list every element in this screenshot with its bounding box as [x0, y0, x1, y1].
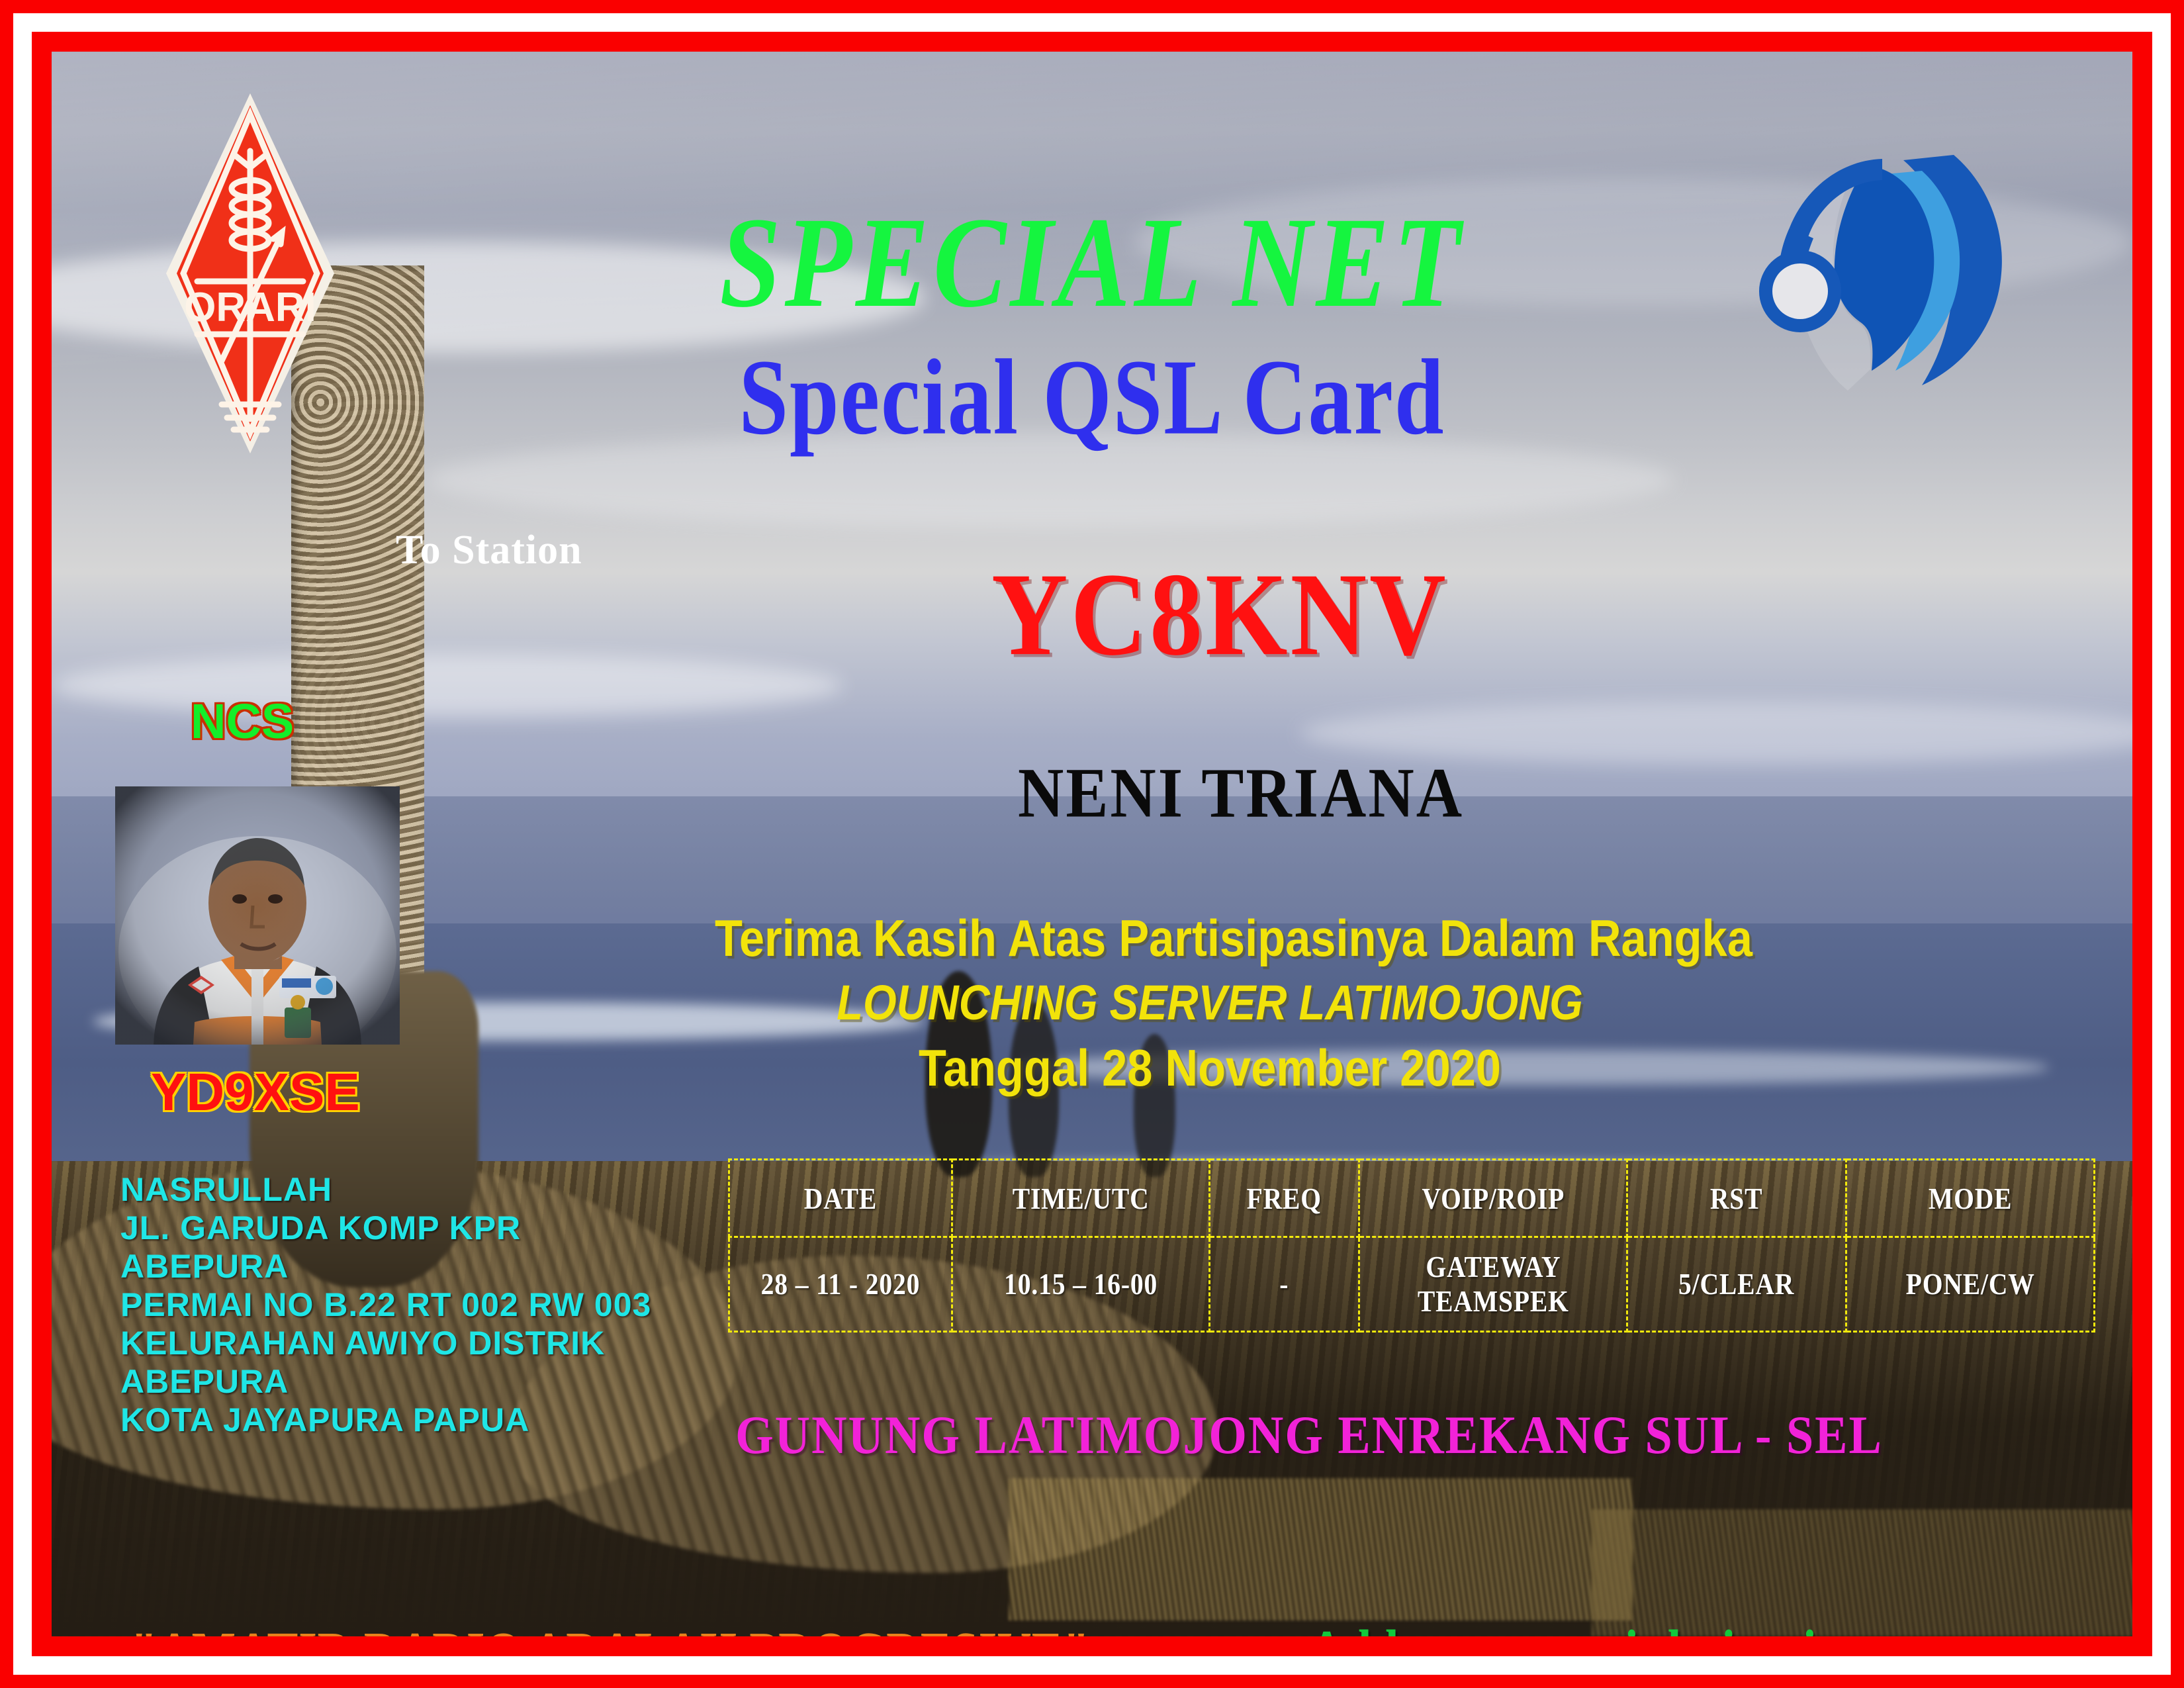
cloud-streak: [52, 654, 842, 718]
column-header-freq: FREQ: [1210, 1160, 1359, 1237]
location-line: GUNUNG LATIMOJONG ENREKANG SUL - SEL: [700, 1409, 1918, 1462]
event-name-line: LOUNCHING SERVER LATIMOJONG: [715, 978, 1705, 1027]
ncs-callsign: YD9XSE: [151, 1066, 360, 1119]
address-line: KELURAHAN AWIYO DISTRIK: [120, 1324, 651, 1362]
cell-mode: PONE/CW: [1846, 1237, 2094, 1332]
page-subtitle: Special QSL Card: [52, 343, 2132, 451]
card-background-photograph: ORARI SPECIAL NET Special QSL Card To St…: [52, 52, 2132, 1636]
grass-patch: [1009, 1478, 1633, 1620]
ncs-operator-photo: [115, 786, 400, 1045]
table-header-row: DATE TIME/UTC FREQ VOIP/ROIP RST MODE: [729, 1160, 2095, 1237]
cell-date: 28 – 11 - 2020: [729, 1237, 952, 1332]
cell-rst: 5/CLEAR: [1627, 1237, 1846, 1332]
page-title: SPECIAL NET: [52, 197, 2132, 327]
qsl-card: ORARI SPECIAL NET Special QSL Card To St…: [0, 0, 2184, 1688]
qso-log-table: DATE TIME/UTC FREQ VOIP/ROIP RST MODE 28…: [728, 1158, 2095, 1333]
operator-name: NENI TRIANA: [1018, 757, 1464, 829]
card-inner-red-border: ORARI SPECIAL NET Special QSL Card To St…: [32, 32, 2152, 1656]
table-row: 28 – 11 - 2020 10.15 – 16-00 - GATEWAY T…: [729, 1237, 2095, 1332]
address-line: KOTA JAYAPURA PAPUA: [120, 1401, 651, 1439]
address-line: PERMAI NO B.22 RT 002 RW 003: [120, 1286, 651, 1324]
column-header-rst: RST: [1627, 1160, 1846, 1237]
cell-freq: -: [1210, 1237, 1359, 1332]
column-header-date: DATE: [729, 1160, 952, 1237]
footer-slogan: "AMATIR RADIO ADALAH PROGRESIVE": [131, 1624, 1090, 1636]
grass-patch: [1592, 1509, 2132, 1636]
column-header-voip: VOIP/ROIP: [1359, 1160, 1627, 1237]
event-date-line: Tanggal 28 November 2020: [715, 1042, 1705, 1094]
address-line: JL. GARUDA KOMP KPR: [120, 1209, 651, 1247]
cell-voip: GATEWAY TEAMSPEK: [1359, 1237, 1627, 1332]
station-callsign: YC8KNV: [991, 555, 1449, 673]
address-line: NASRULLAH: [120, 1170, 651, 1209]
card-white-gap: ORARI SPECIAL NET Special QSL Card To St…: [13, 13, 2171, 1675]
event-thanks-line: Terima Kasih Atas Partisipasinya Dalam R…: [715, 912, 1705, 964]
footer-web-address: Address : amatir.latimojong.com: [1309, 1622, 1991, 1636]
address-line: ABEPURA: [120, 1362, 651, 1401]
address-line: ABEPURA: [120, 1247, 651, 1286]
column-header-time: TIME/UTC: [952, 1160, 1209, 1237]
cell-time: 10.15 – 16-00: [952, 1237, 1209, 1332]
to-station-label: To Station: [396, 530, 582, 571]
sender-address-block: NASRULLAH JL. GARUDA KOMP KPR ABEPURA PE…: [120, 1170, 651, 1439]
ncs-label: NCS: [191, 697, 294, 746]
column-header-mode: MODE: [1846, 1160, 2094, 1237]
